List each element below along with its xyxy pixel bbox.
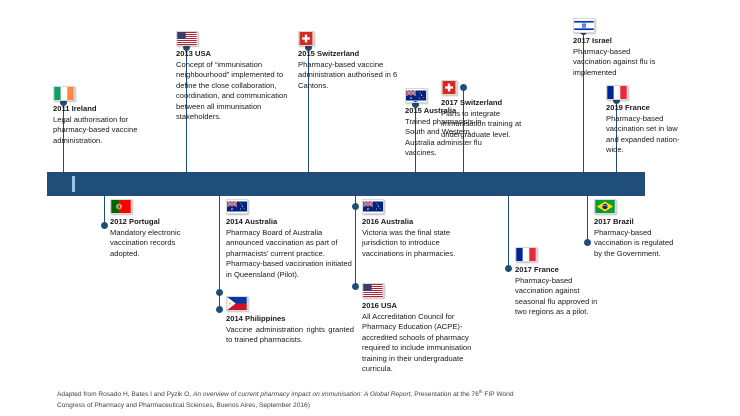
citation-line1-mid: , Presentation at the 76: [411, 391, 479, 398]
timeline-infographic: 2011 Ireland Legal authorisation for pha…: [0, 0, 740, 416]
source-citation: Adapted from Rosado H, Bates I and Pyzik…: [57, 386, 697, 411]
event-description: Pharmacy-based vaccination against seaso…: [515, 276, 603, 318]
event-description: Pharmacy-based vaccination set in law an…: [606, 114, 691, 156]
event-2011-ireland: 2011 Ireland Legal authorisation for pha…: [53, 86, 156, 146]
australia-flag-icon: [362, 199, 384, 214]
israel-flag-icon: [573, 18, 595, 33]
connector-2017-france: [508, 196, 509, 272]
event-description: Victoria was the final state jurisdictio…: [362, 228, 469, 260]
event-2013-usa: 2013 USA Concept of “immunisation neighb…: [176, 31, 297, 123]
switzerland-flag-icon: [441, 80, 457, 95]
connector-2014-philippines: [219, 196, 220, 313]
citation-title: An overview of current pharmacy impact o…: [193, 391, 411, 398]
connector-dot: [584, 239, 591, 246]
connector-2016-usa: [355, 196, 356, 290]
event-title: 2017 Israel: [573, 36, 656, 47]
event-description: Plans to integrate immunisation training…: [441, 109, 536, 141]
event-title: 2013 USA: [176, 49, 297, 60]
event-title: 2015 Switzerland: [298, 49, 404, 60]
event-title: 2016 USA: [362, 301, 484, 312]
france-flag-icon: [606, 85, 628, 100]
event-title: 2016 Australia: [362, 217, 469, 228]
australia-flag-icon: [226, 199, 248, 214]
event-title: 2011 Ireland: [53, 104, 156, 115]
usa-flag-icon: [176, 31, 198, 46]
connector-dot: [505, 265, 512, 272]
brazil-flag-icon: [594, 199, 616, 214]
citation-line2: Congress of Pharmacy and Pharmaceutical …: [57, 402, 310, 409]
event-2012-portugal: 2012 Portugal Mandatory electronic vacci…: [110, 199, 207, 259]
event-title: 2014 Australia: [226, 217, 354, 228]
event-title: 2017 France: [515, 265, 603, 276]
timeline-bar: [47, 172, 645, 196]
event-2016-usa: 2016 USA All Accreditation Council for P…: [362, 283, 484, 375]
event-description: Pharmacy-based vaccination against flu i…: [573, 47, 656, 79]
event-2014-australia: 2014 Australia Pharmacy Board of Austral…: [226, 199, 354, 280]
connector-2012-portugal: [104, 196, 105, 229]
event-title: 2014 Philippines: [226, 314, 354, 325]
event-2017-brazil: 2017 Brazil Pharmacy-based vaccination i…: [594, 199, 682, 259]
event-description: Vaccine administration rights granted to…: [226, 325, 354, 346]
connector-dot: [352, 283, 359, 290]
ireland-flag-icon: [53, 86, 75, 101]
philippines-flag-icon: [226, 296, 248, 311]
event-description: Mandatory electronic vaccination records…: [110, 228, 207, 260]
event-title: 2019 France: [606, 103, 691, 114]
event-description: All Accreditation Council for Pharmacy E…: [362, 312, 484, 376]
usa-flag-icon: [362, 283, 384, 298]
event-2017-france: 2017 France Pharmacy-based vaccination a…: [515, 247, 603, 318]
event-description: Pharmacy Board of Australia announced va…: [226, 228, 354, 281]
event-description: Concept of “immunisation neighbourhood” …: [176, 60, 297, 124]
connector-dot: [101, 222, 108, 229]
australia-flag-icon: [405, 88, 427, 103]
france-flag-icon: [515, 247, 537, 262]
switzerland-flag-icon: [298, 31, 314, 46]
connector-2017-brazil: [587, 196, 588, 246]
event-description: Legal authorisation for pharmacy-based v…: [53, 115, 156, 147]
event-2017-israel: 2017 Israel Pharmacy-based vaccination a…: [573, 18, 656, 78]
event-description: Pharmacy-based vaccine administration au…: [298, 60, 404, 92]
event-title: 2017 Brazil: [594, 217, 682, 228]
connector-dot: [216, 306, 223, 313]
event-title: 2017 Switzerland: [441, 98, 536, 109]
event-description: Pharmacy-based vaccination is regulated …: [594, 228, 682, 260]
citation-line1-post: FIP World: [483, 391, 514, 398]
event-2014-philippines: 2014 Philippines Vaccine administration …: [226, 296, 354, 346]
citation-line1-pre: Adapted from Rosado H, Bates I and Pyzik…: [57, 391, 193, 398]
event-title: 2012 Portugal: [110, 217, 207, 228]
event-2019-france: 2019 France Pharmacy-based vaccination s…: [606, 85, 691, 156]
portugal-flag-icon: [110, 199, 132, 214]
timeline-bar-marker: [72, 176, 75, 192]
event-2016-australia: 2016 Australia Victoria was the final st…: [362, 199, 469, 259]
event-2015-switzerland: 2015 Switzerland Pharmacy-based vaccine …: [298, 31, 404, 91]
event-2017-switzerland: 2017 Switzerland Plans to integrate immu…: [441, 80, 536, 140]
